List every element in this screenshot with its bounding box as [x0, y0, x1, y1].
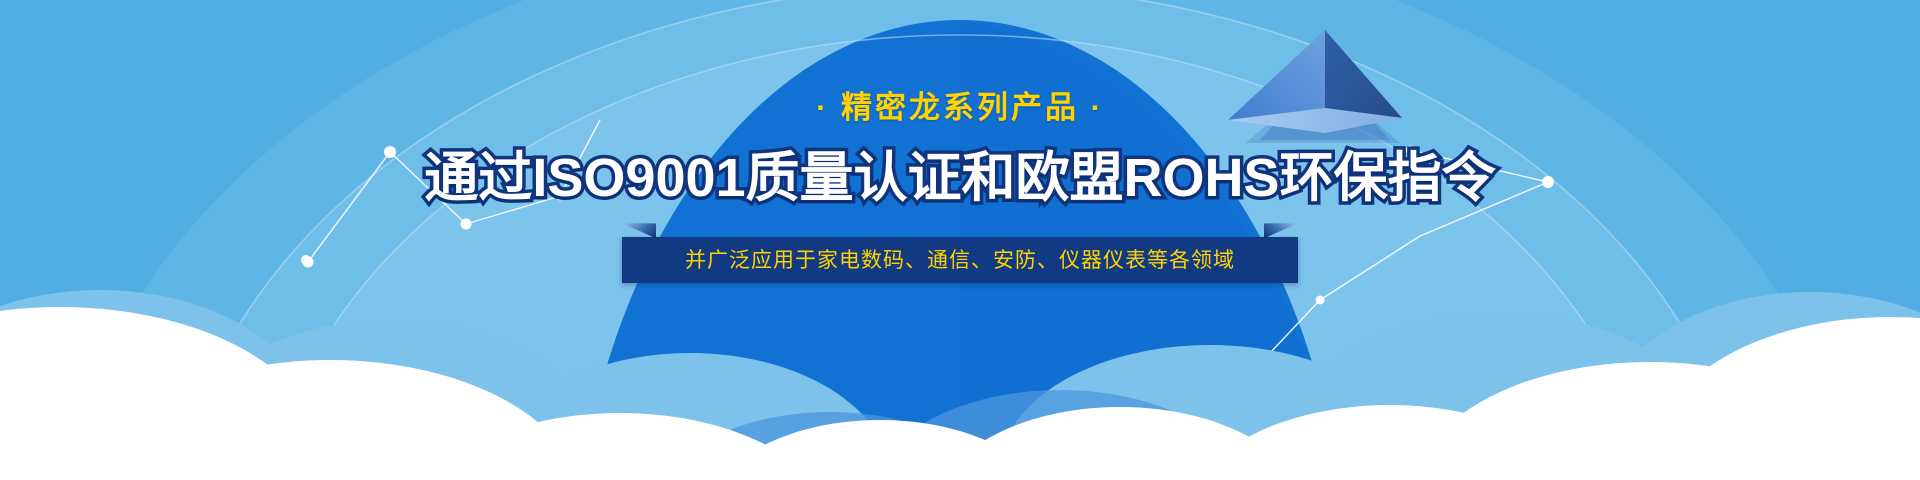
promotional-banner: · 精密龙系列产品 · 通过ISO9001质量认证和欧盟ROHS环保指令 并广泛… — [0, 0, 1920, 480]
background-graphics — [0, 0, 1920, 480]
